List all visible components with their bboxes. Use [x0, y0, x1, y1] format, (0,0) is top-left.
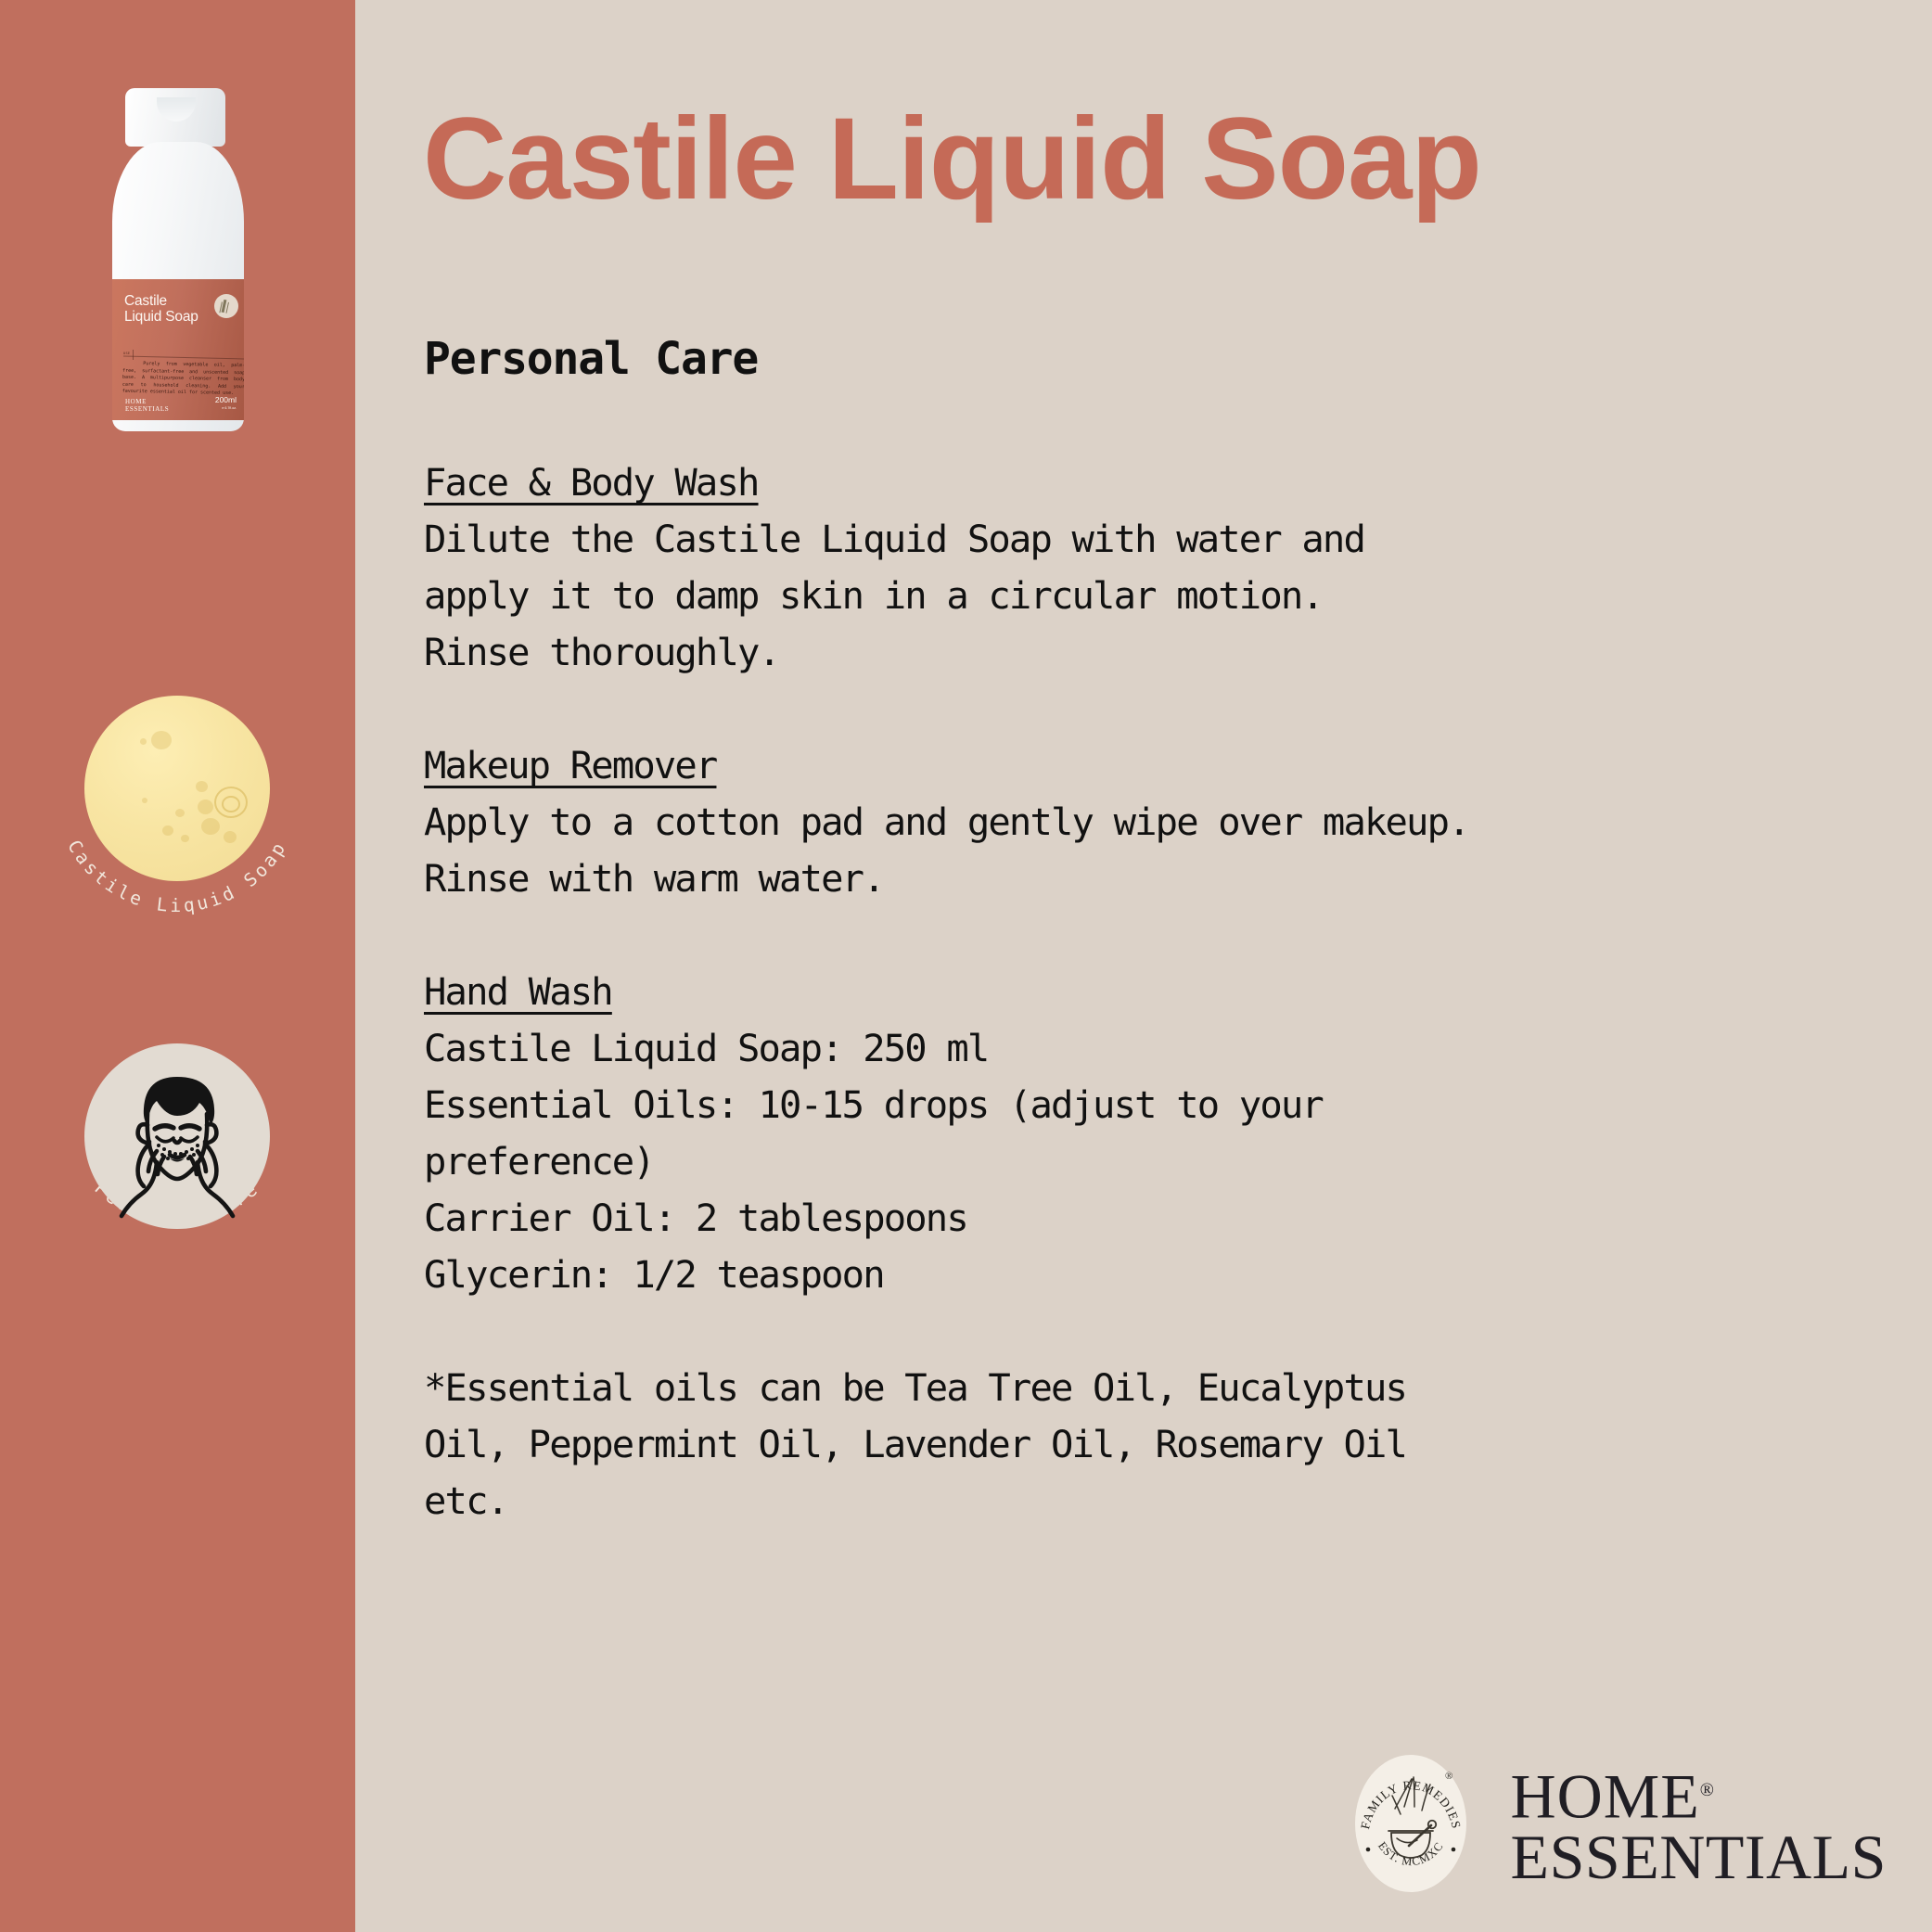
soap-bubble-icon: [201, 818, 220, 835]
castile-liquid-soap-badge: Castile Liquid Soap: [33, 686, 321, 974]
bottle-label-copy: Purely from vegetable oil, palm-free, su…: [122, 361, 244, 398]
instruction-line: Essential Oils: 10-15 drops (adjust to y…: [424, 1077, 1889, 1133]
footnote-line: *Essential oils can be Tea Tree Oil, Euc…: [424, 1360, 1889, 1416]
instruction-line: Carrier Oil: 2 tablespoons: [424, 1190, 1889, 1247]
soap-bubble-icon: [142, 798, 147, 803]
soap-bubble-icon: [175, 809, 185, 817]
instruction-heading: Makeup Remover: [424, 737, 1889, 794]
soap-bubble-icon: [196, 781, 208, 792]
bottle-volume-value: 200ml: [215, 395, 237, 404]
bottle-label-divider: [123, 356, 244, 360]
bottle-cap: [125, 88, 225, 147]
instruction-heading-text: Makeup Remover: [424, 737, 716, 794]
sidebar: Castile Liquid Soap USE Purely from vege…: [0, 0, 355, 1932]
instruction-block: Makeup Remover Apply to a cotton pad and…: [424, 737, 1889, 907]
bottle-volume: 200ml e 6.7fl.oz.: [215, 396, 237, 413]
soap-bubble-icon: [222, 796, 240, 812]
bottle-label: Castile Liquid Soap USE Purely from vege…: [112, 279, 244, 420]
instruction-heading-text: Hand Wash: [424, 964, 612, 1020]
instruction-line: Rinse thoroughly.: [424, 624, 1889, 681]
footnote-line: Oil, Peppermint Oil, Lavender Oil, Rosem…: [424, 1416, 1889, 1473]
soap-bubble-icon: [162, 825, 173, 836]
brand-logo: FAMILY REMEDIES EST. MCMXC ®: [1353, 1753, 1887, 1894]
instructions-body: Face & Body Wash Dilute the Castile Liqu…: [424, 454, 1889, 1529]
soap-texture-disc: [84, 696, 270, 881]
instruction-line: Apply to a cotton pad and gently wipe ov…: [424, 794, 1889, 851]
soap-bubble-icon: [224, 831, 237, 843]
seal-dot: [1451, 1848, 1455, 1852]
instruction-line: Dilute the Castile Liquid Soap with wate…: [424, 511, 1889, 568]
wordmark-home: HOME: [1511, 1760, 1700, 1831]
wordmark-registered-mark: ®: [1700, 1780, 1715, 1800]
bottle-brand-line1: HOME: [125, 398, 147, 405]
instruction-heading: Face & Body Wash: [424, 454, 1889, 511]
instruction-heading: Hand Wash: [424, 964, 1889, 1020]
instruction-line: Rinse with warm water.: [424, 851, 1889, 907]
seal-dot: [1365, 1848, 1370, 1852]
wordmark-line2: ESSENTIALS: [1511, 1826, 1887, 1887]
instruction-block: Hand Wash Castile Liquid Soap: 250 ml Es…: [424, 964, 1889, 1303]
bottle-label-title: Castile Liquid Soap: [124, 293, 198, 325]
page-title: Castile Liquid Soap: [423, 101, 1481, 217]
home-essentials-wordmark: HOME® ESSENTIALS: [1511, 1759, 1887, 1888]
wordmark-line1: HOME®: [1511, 1759, 1887, 1827]
soap-bubble-icon: [151, 731, 172, 749]
instruction-line: Castile Liquid Soap: 250 ml: [424, 1020, 1889, 1077]
bottle-label-brand: HOME ESSENTIALS: [125, 398, 169, 413]
section-heading: Personal Care: [424, 335, 758, 383]
main-content: Castile Liquid Soap Personal Care Face &…: [355, 0, 1932, 1932]
soap-bubble-icon: [198, 800, 213, 814]
product-bottle-image: Castile Liquid Soap USE Purely from vege…: [88, 88, 264, 431]
bottle-label-tick: [133, 350, 134, 360]
instruction-line: preference): [424, 1133, 1889, 1190]
bottle-seal-icon: [214, 294, 238, 318]
soap-bubble-icon: [181, 835, 189, 842]
bottle-brand-line2: ESSENTIALS: [125, 405, 169, 413]
footnote-block: *Essential oils can be Tea Tree Oil, Euc…: [424, 1360, 1889, 1529]
bottle-label-title-line2: Liquid Soap: [124, 309, 198, 325]
footnote-line: etc.: [424, 1473, 1889, 1529]
bottle-label-use-tag: USE: [123, 352, 130, 355]
instruction-heading-text: Face & Body Wash: [424, 454, 759, 511]
poster-canvas: Castile Liquid Soap USE Purely from vege…: [0, 0, 1932, 1932]
soap-bubble-icon: [140, 738, 147, 745]
instruction-block: Face & Body Wash Dilute the Castile Liqu…: [424, 454, 1889, 681]
bottle-label-title-line1: Castile: [124, 293, 167, 309]
bottle-volume-sub: e 6.7fl.oz.: [215, 404, 237, 413]
personal-care-badge: Personal Care: [33, 1034, 321, 1322]
instruction-line: Glycerin: 1/2 teaspoon: [424, 1247, 1889, 1303]
instruction-line: apply it to damp skin in a circular moti…: [424, 568, 1889, 624]
seal-registered-mark: ®: [1445, 1771, 1452, 1782]
family-remedies-seal-icon: FAMILY REMEDIES EST. MCMXC ®: [1353, 1753, 1468, 1894]
face-washing-icon: [84, 1043, 270, 1229]
